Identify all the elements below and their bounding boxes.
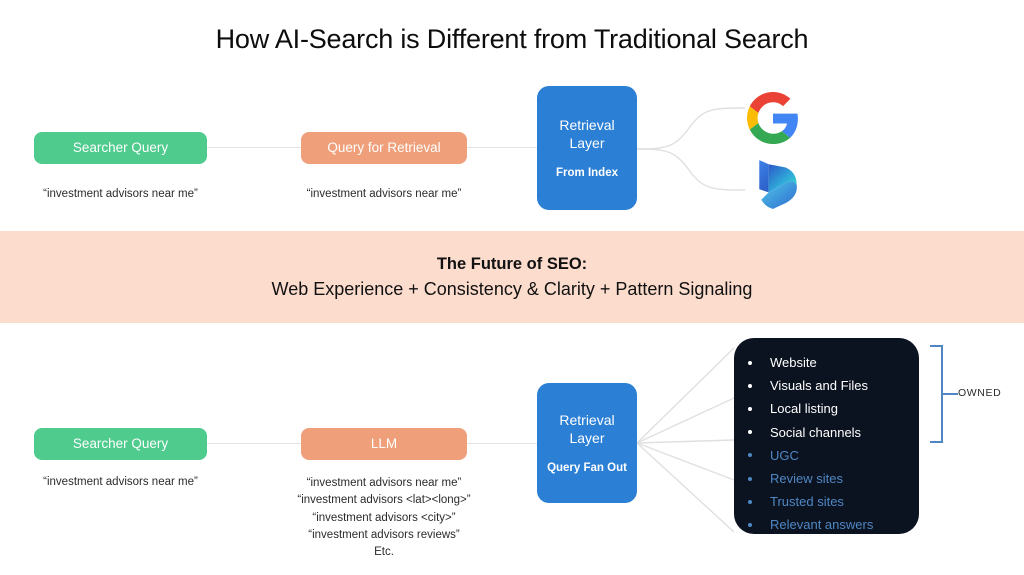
node-searcher-query-traditional[interactable]: Searcher Query xyxy=(34,132,207,164)
banner-title: The Future of SEO: xyxy=(437,255,587,274)
node-query-for-retrieval[interactable]: Query for Retrieval xyxy=(301,132,467,164)
bullet-icon xyxy=(748,477,752,481)
bullet-icon xyxy=(748,407,752,411)
caption-query-for-retrieval: “investment advisors near me” xyxy=(296,186,472,203)
node-label: LLM xyxy=(371,436,397,453)
list-item[interactable]: Relevant answers xyxy=(734,513,919,536)
bullet-icon xyxy=(748,500,752,504)
retrieval-layer-line2: Layer xyxy=(569,430,604,446)
owned-bracket xyxy=(928,344,962,449)
node-label: Searcher Query xyxy=(73,436,168,453)
list-item[interactable]: Local listing xyxy=(734,397,919,420)
retrieval-layer-sublabel: Query Fan Out xyxy=(547,461,627,475)
llm-query-line: “investment advisors <lat><long>” xyxy=(284,492,484,509)
retrieval-layer-title: Retrieval Layer xyxy=(559,116,614,152)
list-item-label: UGC xyxy=(770,449,799,462)
node-label: Searcher Query xyxy=(73,140,168,157)
list-item-label: Visuals and Files xyxy=(770,379,868,392)
caption-llm-queries: “investment advisors near me” “investmen… xyxy=(284,475,484,561)
list-item-label: Website xyxy=(770,356,817,369)
page-title: How AI-Search is Different from Traditio… xyxy=(0,24,1024,55)
retrieval-layer-line1: Retrieval xyxy=(559,117,614,133)
retrieval-layer-sublabel: From Index xyxy=(556,166,618,180)
connector-retrieval-fanout xyxy=(637,340,737,540)
caption-searcher-query-ai: “investment advisors near me” xyxy=(34,474,207,491)
list-item[interactable]: Social channels xyxy=(734,421,919,444)
llm-query-line: “investment advisors near me” xyxy=(284,475,484,492)
future-of-seo-banner: The Future of SEO: Web Experience + Cons… xyxy=(0,231,1024,323)
connector-query-to-retrieval xyxy=(466,147,540,148)
node-searcher-query-ai[interactable]: Searcher Query xyxy=(34,428,207,460)
node-retrieval-layer-traditional[interactable]: Retrieval Layer From Index xyxy=(537,86,637,210)
list-item-label: Relevant answers xyxy=(770,518,873,531)
connector-searcher-to-query xyxy=(205,147,303,148)
caption-searcher-query-traditional: “investment advisors near me” xyxy=(34,186,207,203)
bullet-icon xyxy=(748,453,752,457)
list-item-label: Trusted sites xyxy=(770,495,844,508)
banner-subtitle: Web Experience + Consistency & Clarity +… xyxy=(272,279,753,300)
list-item-label: Social channels xyxy=(770,426,861,439)
bullet-icon xyxy=(748,430,752,434)
slide-canvas: How AI-Search is Different from Traditio… xyxy=(0,0,1024,575)
list-item[interactable]: UGC xyxy=(734,444,919,467)
list-item[interactable]: Website xyxy=(734,351,919,374)
bullet-icon xyxy=(748,523,752,527)
llm-query-line: “investment advisors <city>” xyxy=(284,510,484,527)
connector-retrieval-to-engines xyxy=(637,88,757,210)
list-item[interactable]: Visuals and Files xyxy=(734,374,919,397)
list-item[interactable]: Trusted sites xyxy=(734,490,919,513)
node-retrieval-layer-ai[interactable]: Retrieval Layer Query Fan Out xyxy=(537,383,637,503)
list-item-label: Local listing xyxy=(770,402,838,415)
results-surfaces-box: Website Visuals and Files Local listing … xyxy=(734,338,919,534)
connector-llm-to-retrieval xyxy=(466,443,540,444)
google-logo xyxy=(747,92,799,149)
owned-label: OWNED xyxy=(958,387,1001,399)
list-item-label: Review sites xyxy=(770,472,843,485)
llm-query-line: Etc. xyxy=(284,544,484,561)
node-llm[interactable]: LLM xyxy=(301,428,467,460)
llm-query-line: “investment advisors reviews” xyxy=(284,527,484,544)
bullet-icon xyxy=(748,361,752,365)
retrieval-layer-line1: Retrieval xyxy=(559,412,614,428)
bullet-icon xyxy=(748,384,752,388)
list-item[interactable]: Review sites xyxy=(734,467,919,490)
retrieval-layer-title: Retrieval Layer xyxy=(559,411,614,447)
connector-searcher-to-llm xyxy=(205,443,303,444)
node-label: Query for Retrieval xyxy=(327,140,440,157)
retrieval-layer-line2: Layer xyxy=(569,135,604,151)
bing-logo xyxy=(753,158,803,215)
